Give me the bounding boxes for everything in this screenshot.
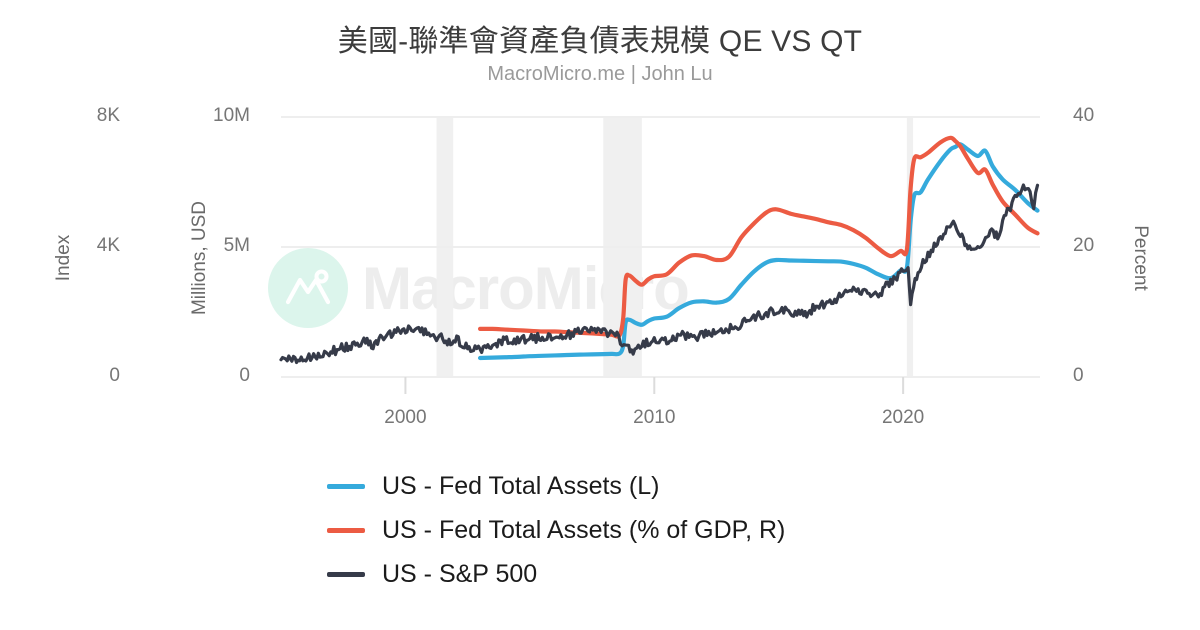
legend-swatch-icon bbox=[327, 572, 365, 577]
legend-item-0[interactable]: US - Fed Total Assets (L) bbox=[327, 468, 785, 504]
chart-legend: US - Fed Total Assets (L)US - Fed Total … bbox=[327, 468, 785, 592]
axis-title-percent: Percent bbox=[1129, 178, 1151, 338]
y-tick-index-8K: 8K bbox=[56, 105, 120, 127]
y-tick-percent-40: 40 bbox=[1073, 105, 1133, 127]
series-paths bbox=[281, 138, 1038, 363]
x-tickmarks bbox=[405, 377, 903, 394]
y-tick-millions-10M: 10M bbox=[180, 105, 250, 127]
x-tick-2020: 2020 bbox=[863, 407, 943, 429]
axis-title-millions-usd: Millions, USD bbox=[189, 168, 211, 348]
legend-swatch-icon bbox=[327, 484, 365, 489]
legend-label: US - Fed Total Assets (% of GDP, R) bbox=[382, 516, 785, 545]
legend-swatch-icon bbox=[327, 528, 365, 533]
x-tick-2010: 2010 bbox=[614, 407, 694, 429]
legend-label: US - Fed Total Assets (L) bbox=[382, 472, 659, 501]
y-tick-percent-20: 20 bbox=[1073, 235, 1133, 257]
legend-item-1[interactable]: US - Fed Total Assets (% of GDP, R) bbox=[327, 512, 785, 548]
axis-title-index: Index bbox=[53, 188, 75, 328]
series-line-fed_assets_pct_gdp bbox=[480, 138, 1037, 337]
x-tick-2000: 2000 bbox=[365, 407, 445, 429]
chart-container: 美國-聯準會資產負債表規模 QE VS QT MacroMicro.me | J… bbox=[0, 0, 1200, 630]
legend-item-2[interactable]: US - S&P 500 bbox=[327, 556, 785, 592]
y-tick-percent-0: 0 bbox=[1073, 365, 1133, 387]
legend-label: US - S&P 500 bbox=[382, 560, 537, 589]
y-tick-millions-0: 0 bbox=[180, 365, 250, 387]
y-tick-index-0: 0 bbox=[56, 365, 120, 387]
series-line-fed_assets bbox=[480, 144, 1037, 358]
